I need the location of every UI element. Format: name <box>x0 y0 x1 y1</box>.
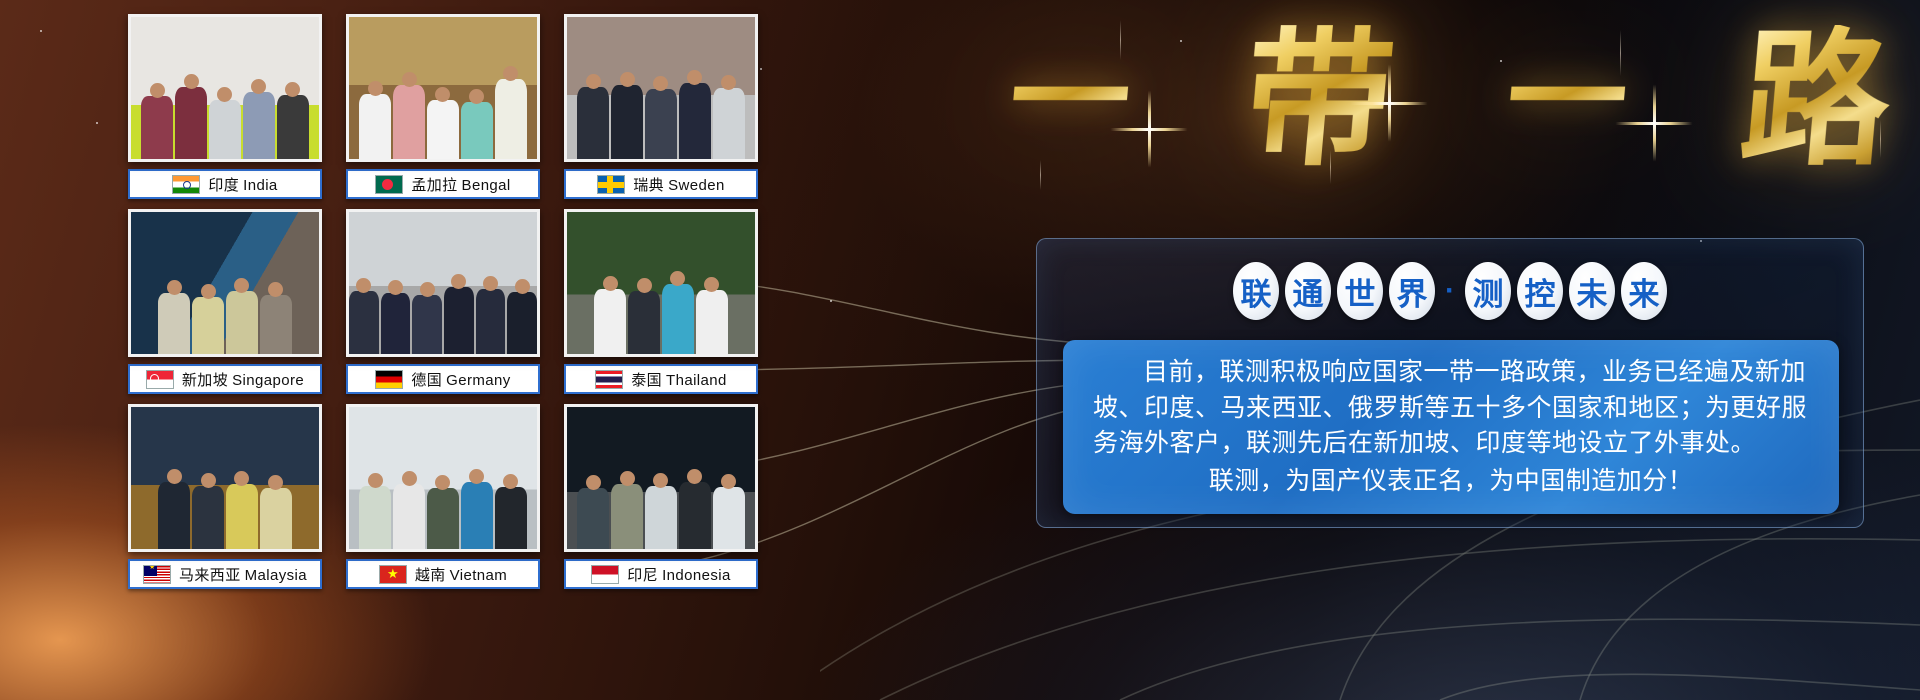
grid-item[interactable]: 马来西亚Malaysia <box>128 404 322 589</box>
caption-text: 新加坡Singapore <box>182 369 304 390</box>
country-caption: 新加坡Singapore <box>128 364 322 394</box>
slogan-row: 联 通 世 界 · 测 控 未 来 <box>1036 262 1864 320</box>
sparkle-icon <box>1148 128 1150 130</box>
caption-text: 泰国Thailand <box>631 369 727 390</box>
caption-text: 印尼Indonesia <box>627 564 730 585</box>
country-photo[interactable] <box>128 209 322 357</box>
country-caption: 印度India <box>128 169 322 199</box>
slogan-char: 联 <box>1233 262 1279 320</box>
country-photo[interactable] <box>128 404 322 552</box>
calligraphy-char-1: 一 <box>1005 39 1135 159</box>
bangladesh-flag <box>375 175 403 194</box>
grid-item[interactable]: 新加坡Singapore <box>128 209 322 394</box>
country-photo[interactable] <box>128 14 322 162</box>
country-photo[interactable] <box>564 209 758 357</box>
slogan-char: 界 <box>1389 262 1435 320</box>
photo-scene <box>349 17 537 159</box>
slogan-char: 未 <box>1569 262 1615 320</box>
caption-text: 越南Vietnam <box>415 564 507 585</box>
grid-item[interactable]: 孟加拉Bengal <box>346 14 540 199</box>
caption-text: 印度India <box>208 174 277 195</box>
photo-scene <box>567 407 755 549</box>
germany-flag <box>375 370 403 389</box>
caption-text: 瑞典Sweden <box>633 174 724 195</box>
calligraphy-headline: 一 带 一 路 <box>1010 6 1890 192</box>
indonesia-flag <box>591 565 619 584</box>
slogan-char: 控 <box>1517 262 1563 320</box>
country-caption: 印尼Indonesia <box>564 559 758 589</box>
grid-item[interactable]: 瑞典Sweden <box>564 14 758 199</box>
caption-text: 马来西亚Malaysia <box>179 564 307 585</box>
photo-scene <box>131 212 319 354</box>
vietnam-flag <box>379 565 407 584</box>
country-photo[interactable] <box>346 14 540 162</box>
calligraphy-char-3: 一 <box>1502 39 1632 159</box>
description-tagline: 联测，为国产仪表正名，为中国制造加分！ <box>1093 463 1809 499</box>
country-caption: 德国Germany <box>346 364 540 394</box>
country-photo-grid: 印度India 孟加拉Bengal <box>128 14 758 589</box>
photo-scene <box>349 407 537 549</box>
description-body: 目前，联测积极响应国家一带一路政策，业务已经遍及新加坡、印度、马来西亚、俄罗斯等… <box>1093 354 1809 461</box>
photo-scene <box>567 17 755 159</box>
grid-item[interactable]: 越南Vietnam <box>346 404 540 589</box>
slogan-char: 测 <box>1465 262 1511 320</box>
india-flag <box>172 175 200 194</box>
slogan-separator: · <box>1441 274 1459 308</box>
country-caption: 瑞典Sweden <box>564 169 758 199</box>
calligraphy-char-4: 路 <box>1735 25 1896 173</box>
grid-item[interactable]: 印度India <box>128 14 322 199</box>
photo-scene <box>131 407 319 549</box>
malaysia-flag <box>143 565 171 584</box>
sweden-flag <box>597 175 625 194</box>
description-panel: 目前，联测积极响应国家一带一路政策，业务已经遍及新加坡、印度、马来西亚、俄罗斯等… <box>1063 340 1839 514</box>
sparkle-icon <box>1388 102 1390 104</box>
photo-scene <box>349 212 537 354</box>
slogan-char: 来 <box>1621 262 1667 320</box>
country-caption: 越南Vietnam <box>346 559 540 589</box>
country-photo[interactable] <box>346 404 540 552</box>
slogan-char: 通 <box>1285 262 1331 320</box>
sparkle-icon <box>1653 122 1655 124</box>
country-photo[interactable] <box>564 14 758 162</box>
thailand-flag <box>595 370 623 389</box>
country-caption: 孟加拉Bengal <box>346 169 540 199</box>
caption-text: 孟加拉Bengal <box>411 174 510 195</box>
calligraphy-char-2: 带 <box>1238 25 1399 173</box>
belt-and-road-banner: 印度India 孟加拉Bengal <box>0 0 1920 700</box>
singapore-flag <box>146 370 174 389</box>
caption-text: 德国Germany <box>411 369 510 390</box>
photo-scene <box>131 17 319 159</box>
grid-item[interactable]: 德国Germany <box>346 209 540 394</box>
grid-item[interactable]: 泰国Thailand <box>564 209 758 394</box>
country-photo[interactable] <box>346 209 540 357</box>
country-photo[interactable] <box>564 404 758 552</box>
grid-item[interactable]: 印尼Indonesia <box>564 404 758 589</box>
slogan-char: 世 <box>1337 262 1383 320</box>
photo-scene <box>567 212 755 354</box>
country-caption: 马来西亚Malaysia <box>128 559 322 589</box>
country-caption: 泰国Thailand <box>564 364 758 394</box>
